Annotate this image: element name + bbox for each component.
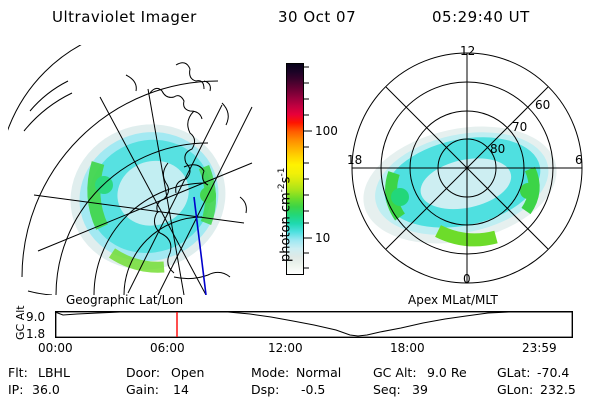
- mlat-ring-label-80: 80: [490, 142, 505, 156]
- status-dsp-value: -0.5: [301, 382, 325, 397]
- colorbar-exp-1: -2: [277, 183, 287, 192]
- status-mode-value: Normal: [296, 365, 341, 380]
- status-gain-key: Gain:: [126, 382, 159, 397]
- colorbar-ticks: [304, 63, 314, 275]
- gc-alt-tick-low: 1.8: [26, 327, 45, 341]
- mlat-ring-label-60: 60: [535, 98, 550, 112]
- status-glat-value: -70.4: [537, 365, 569, 380]
- status-flt-key: Flt:: [8, 365, 28, 380]
- time-tick-0600: 06:00: [150, 341, 185, 355]
- status-flt-value: LBHL: [38, 365, 70, 380]
- status-door-key: Door:: [126, 365, 160, 380]
- status-seq-value: 39: [412, 382, 428, 397]
- status-gcalt-value: 9.0 Re: [427, 365, 467, 380]
- status-gcalt-key: GC Alt:: [373, 365, 417, 380]
- left-polar-panel: [8, 45, 266, 295]
- status-dsp-key: Dsp:: [251, 382, 279, 397]
- time-tick-1800: 18:00: [390, 341, 425, 355]
- right-panel-caption: Apex MLat/MLT: [408, 293, 498, 307]
- colorbar-unit-2: s: [278, 177, 293, 184]
- status-glon-key: GLon:: [497, 382, 533, 397]
- observation-time: 05:29:40 UT: [432, 8, 530, 26]
- mlt-spokes: [352, 53, 582, 283]
- aurora-emission-left: [52, 104, 245, 289]
- aurora-emission-right: [352, 110, 567, 260]
- orbit-altitude-plot: [55, 311, 573, 338]
- mlt-label-6: 6: [575, 153, 583, 167]
- time-tick-1200: 12:00: [268, 341, 303, 355]
- status-glat-key: GLat:: [497, 365, 530, 380]
- altitude-curve: [55, 312, 572, 336]
- instrument-title: Ultraviolet Imager: [52, 8, 197, 26]
- colorbar-axis-label-text: photon cm: [278, 192, 293, 262]
- colorbar-tick-100: 100: [315, 124, 338, 138]
- time-tick-0000: 00:00: [38, 341, 73, 355]
- status-ip-value: 36.0: [32, 382, 60, 397]
- colorbar-tick-10: 10: [315, 231, 330, 245]
- mlt-label-0: 0: [463, 272, 471, 286]
- status-glon-value: 232.5: [540, 382, 576, 397]
- time-tick-2359: 23:59: [522, 341, 557, 355]
- mlt-label-18: 18: [347, 153, 362, 167]
- status-gain-value: 14: [173, 382, 189, 397]
- mlat-ring-label-70: 70: [512, 120, 527, 134]
- colorbar-exp-2: -1: [277, 168, 287, 177]
- status-mode-key: Mode:: [251, 365, 289, 380]
- right-polar-panel: [342, 45, 592, 295]
- mlt-label-12: 12: [460, 44, 475, 58]
- status-door-value: Open: [171, 365, 204, 380]
- status-ip-key: IP:: [8, 382, 23, 397]
- observation-date: 30 Oct 07: [278, 8, 356, 26]
- gc-alt-tick-high: 9.0: [26, 310, 45, 324]
- status-seq-key: Seq:: [373, 382, 401, 397]
- left-panel-caption: Geographic Lat/Lon: [66, 293, 183, 307]
